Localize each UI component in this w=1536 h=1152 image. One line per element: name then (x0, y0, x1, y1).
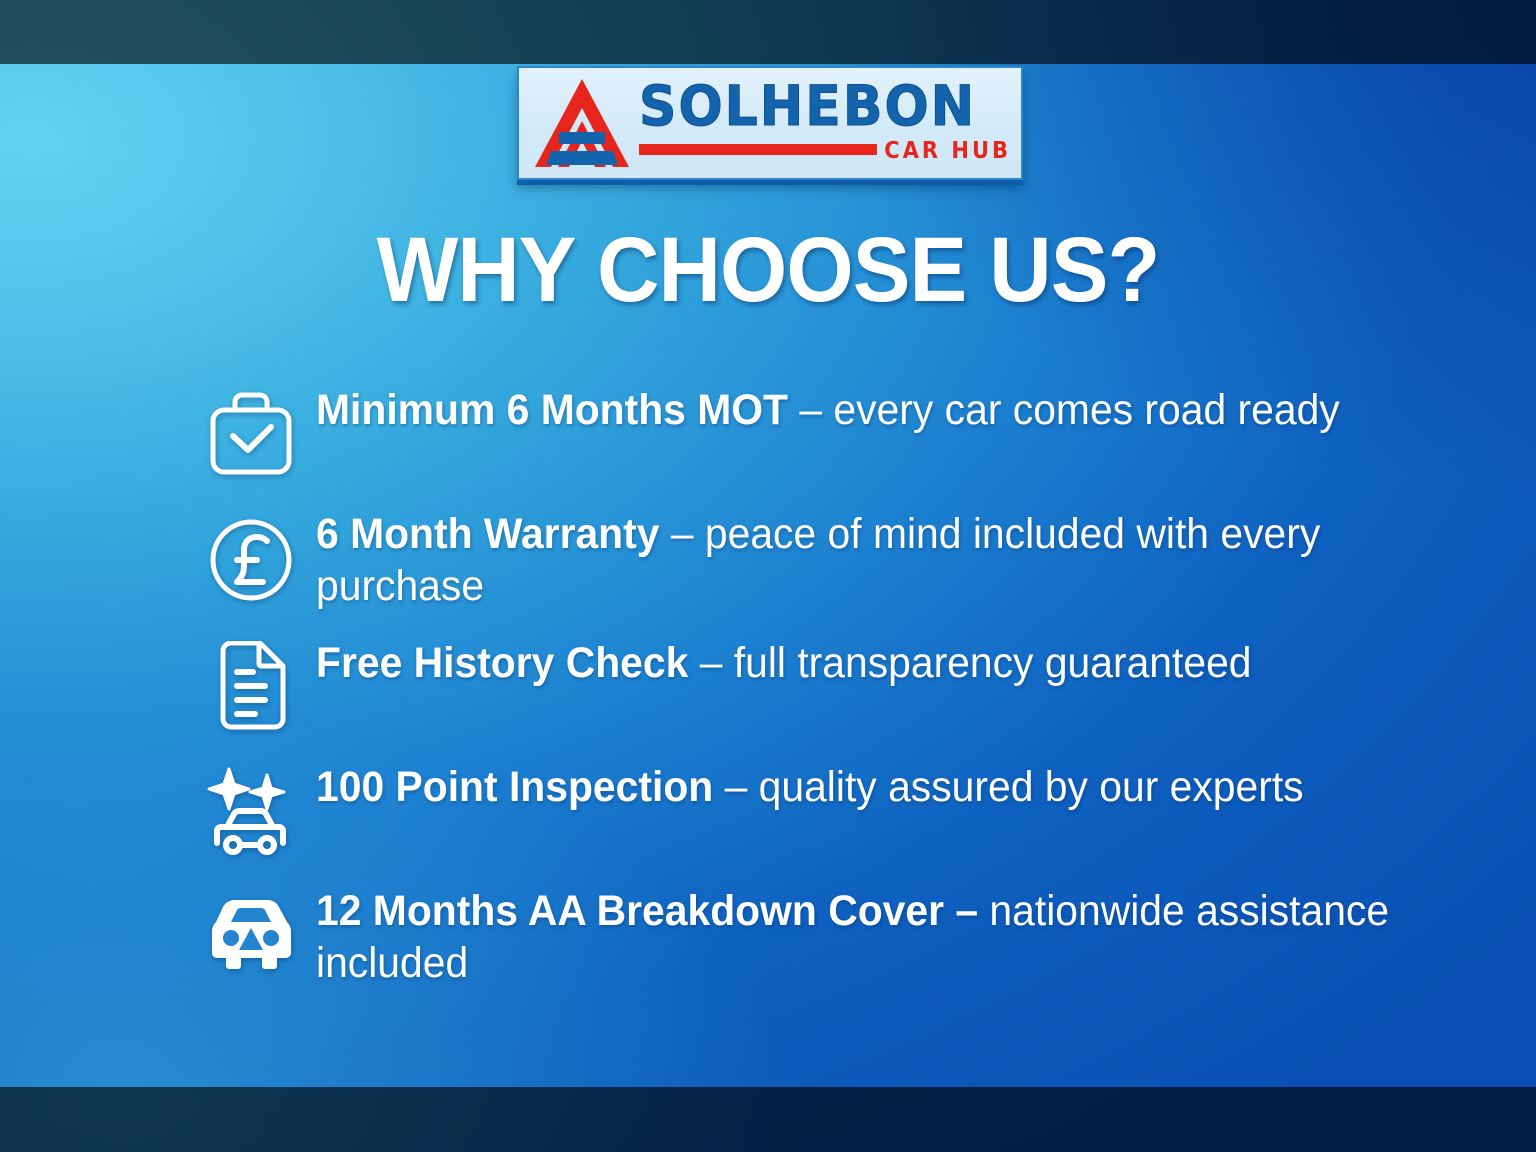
triangle-road-mark-icon (533, 75, 635, 171)
benefit-lead: 100 Point Inspection (316, 763, 713, 811)
brand-name: SOLHEBON (639, 80, 1011, 134)
logo-wordmark: SOLHEBON CAR HUB (639, 82, 1011, 164)
benefit-lead: Minimum 6 Months MOT (316, 386, 788, 434)
logo-red-rule (639, 144, 877, 155)
benefit-lead: Free History Check (316, 639, 688, 687)
page-title: WHY CHOOSE US? (46, 224, 1490, 316)
benefit-rest: – full transparency guaranteed (688, 639, 1251, 687)
benefit-text: 12 Months AA Breakdown Cover – nationwid… (316, 883, 1428, 990)
benefit-text: Free History Check – full transparency g… (316, 635, 1428, 689)
benefit-text: 100 Point Inspection – quality assured b… (316, 759, 1428, 813)
toolbox-check-icon (186, 382, 316, 484)
poster-canvas: SOLHEBON CAR HUB WHY CHOOSE US? Minimum … (0, 0, 1536, 1152)
logo-underline-row: CAR HUB (639, 138, 1011, 162)
list-item: 6 Month Warranty – peace of mind include… (186, 506, 1486, 613)
list-item: 12 Months AA Breakdown Cover – nationwid… (186, 883, 1486, 990)
sparkle-car-icon (186, 759, 316, 861)
benefit-text: Minimum 6 Months MOT – every car comes r… (316, 382, 1428, 436)
benefit-lead: 6 Month Warranty (316, 510, 659, 558)
car-front-icon (186, 883, 316, 981)
brand-logo[interactable]: SOLHEBON CAR HUB (517, 66, 1023, 180)
brand-tagline: CAR HUB (884, 137, 1011, 164)
document-lines-icon (186, 635, 316, 737)
benefit-rest: – every car comes road ready (788, 386, 1340, 434)
benefit-rest: – quality assured by our experts (713, 763, 1303, 811)
list-item: Free History Check – full transparency g… (186, 635, 1486, 737)
pound-coin-icon (186, 506, 316, 608)
benefit-lead: 12 Months AA Breakdown Cover – (316, 887, 978, 935)
benefits-list: Minimum 6 Months MOT – every car comes r… (186, 382, 1486, 990)
list-item: 100 Point Inspection – quality assured b… (186, 759, 1486, 861)
benefit-text: 6 Month Warranty – peace of mind include… (316, 506, 1428, 613)
list-item: Minimum 6 Months MOT – every car comes r… (186, 382, 1486, 484)
